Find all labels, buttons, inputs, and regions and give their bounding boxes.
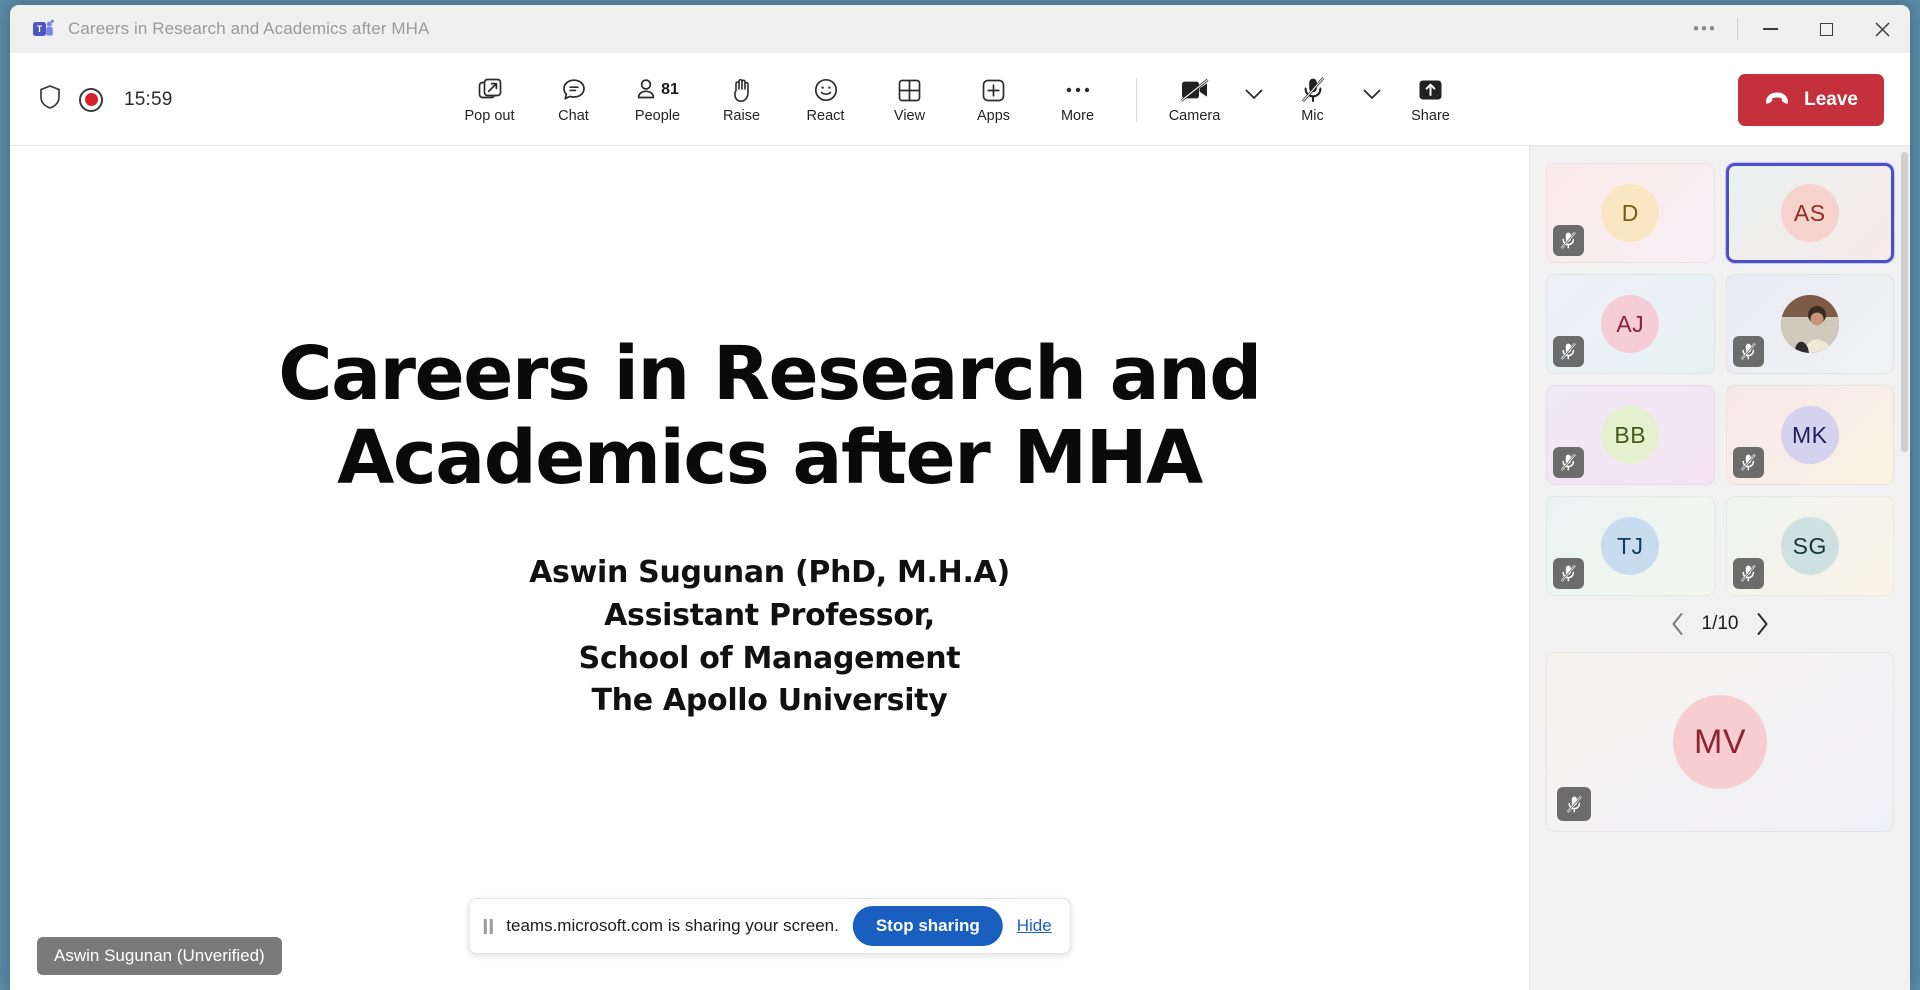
chevron-down-icon bbox=[1363, 89, 1381, 100]
camera-options-chevron[interactable] bbox=[1237, 60, 1271, 130]
screen-share-notification: teams.microsoft.com is sharing your scre… bbox=[468, 898, 1070, 954]
pop-out-button[interactable]: Pop out bbox=[448, 65, 532, 135]
window-title: Careers in Research and Academics after … bbox=[68, 19, 429, 39]
chevron-right-icon bbox=[1754, 612, 1770, 636]
participant-grid: D ASAJ BB MK TJ SG bbox=[1546, 163, 1894, 596]
participant-mute-badge bbox=[1733, 447, 1764, 478]
participant-tile[interactable]: BB bbox=[1546, 385, 1715, 485]
chat-button[interactable]: Chat bbox=[532, 65, 616, 135]
pager-label: 1/10 bbox=[1702, 613, 1739, 635]
react-emoji-icon bbox=[813, 75, 839, 105]
participant-mute-badge bbox=[1553, 336, 1584, 367]
pop-out-label: Pop out bbox=[465, 109, 515, 124]
mic-label: Mic bbox=[1301, 109, 1324, 124]
spotlight-participant-tile[interactable]: MV bbox=[1546, 652, 1894, 832]
window-controls: ••• bbox=[1677, 5, 1910, 53]
close-icon bbox=[1875, 22, 1890, 37]
participant-tile[interactable]: AJ bbox=[1546, 274, 1715, 374]
chevron-down-icon bbox=[1245, 89, 1263, 100]
camera-off-icon bbox=[1179, 75, 1211, 105]
slide-subtitle: Aswin Sugunan (PhD, M.H.A) Assistant Pro… bbox=[529, 552, 1010, 722]
teams-logo-icon: T bbox=[32, 18, 54, 40]
leave-button-label: Leave bbox=[1804, 89, 1858, 111]
maximize-icon bbox=[1820, 23, 1833, 36]
slide-subtitle-line: School of Management bbox=[529, 638, 1010, 681]
slide-subtitle-line: The Apollo University bbox=[529, 680, 1010, 723]
people-button[interactable]: 81 People bbox=[616, 65, 700, 135]
react-button[interactable]: React bbox=[784, 65, 868, 135]
people-icon: 81 bbox=[636, 75, 679, 105]
slide-subtitle-line: Aswin Sugunan (PhD, M.H.A) bbox=[529, 552, 1010, 595]
participant-avatar-initials: AJ bbox=[1601, 295, 1659, 353]
roster-pager: 1/10 bbox=[1546, 596, 1894, 652]
camera-button[interactable]: Camera bbox=[1153, 65, 1237, 135]
raise-hand-button[interactable]: Raise bbox=[700, 65, 784, 135]
shared-screen-stage[interactable]: Careers in Research and Academics after … bbox=[10, 146, 1530, 990]
participant-avatar-initials: AS bbox=[1781, 184, 1839, 242]
stop-sharing-button[interactable]: Stop sharing bbox=[853, 906, 1003, 946]
participant-photo bbox=[1781, 295, 1839, 353]
window-maximize-button[interactable] bbox=[1798, 5, 1854, 53]
participant-avatar-initials: TJ bbox=[1601, 517, 1659, 575]
mic-off-icon bbox=[1740, 453, 1757, 472]
pager-prev-button[interactable] bbox=[1670, 612, 1686, 636]
mic-off-icon bbox=[1300, 75, 1326, 105]
view-label: View bbox=[894, 109, 925, 124]
share-button[interactable]: Share bbox=[1389, 65, 1473, 135]
camera-label: Camera bbox=[1169, 109, 1221, 124]
participant-tile[interactable] bbox=[1726, 274, 1895, 374]
meeting-actions: Pop out Chat bbox=[10, 53, 1910, 146]
presenter-name-chip: Aswin Sugunan (Unverified) bbox=[37, 937, 282, 975]
screen-root: T Careers in Research and Academics afte… bbox=[0, 0, 1920, 990]
participant-tile[interactable]: D bbox=[1546, 163, 1715, 263]
mic-off-icon bbox=[1566, 795, 1583, 814]
hide-notification-link[interactable]: Hide bbox=[1017, 916, 1052, 936]
chat-icon bbox=[561, 75, 587, 105]
react-label: React bbox=[807, 109, 845, 124]
view-button[interactable]: View bbox=[868, 65, 952, 135]
participant-mute-badge bbox=[1733, 336, 1764, 367]
mic-button[interactable]: Mic bbox=[1271, 65, 1355, 135]
participant-avatar-initials: MK bbox=[1781, 406, 1839, 464]
participant-avatar-initials: D bbox=[1601, 184, 1659, 242]
pager-next-button[interactable] bbox=[1754, 612, 1770, 636]
participant-tile[interactable]: SG bbox=[1726, 496, 1895, 596]
minimize-icon bbox=[1763, 28, 1778, 30]
mic-off-icon bbox=[1560, 342, 1577, 361]
meeting-toolbar: 15:59 Pop out bbox=[10, 53, 1910, 146]
participant-tile[interactable]: MK bbox=[1726, 385, 1895, 485]
people-count: 81 bbox=[661, 81, 679, 99]
people-label: People bbox=[635, 109, 680, 124]
more-dots-icon: ••• bbox=[1693, 25, 1717, 33]
leave-button[interactable]: Leave bbox=[1738, 74, 1884, 126]
participant-avatar-initials: SG bbox=[1781, 517, 1839, 575]
spotlight-avatar-initials: MV bbox=[1673, 695, 1767, 789]
participant-avatar-photo bbox=[1781, 295, 1839, 353]
participant-mute-badge bbox=[1553, 225, 1584, 256]
teams-window: T Careers in Research and Academics afte… bbox=[10, 5, 1910, 990]
raise-label: Raise bbox=[723, 109, 760, 124]
leave-group: Leave bbox=[1738, 53, 1884, 146]
spotlight-mute-badge bbox=[1557, 787, 1591, 821]
mic-off-icon bbox=[1560, 564, 1577, 583]
window-close-button[interactable] bbox=[1854, 5, 1910, 53]
participant-mute-badge bbox=[1553, 558, 1584, 589]
pop-out-icon bbox=[477, 75, 503, 105]
toolbar-divider bbox=[1136, 78, 1137, 122]
participant-tile[interactable]: TJ bbox=[1546, 496, 1715, 596]
apps-label: Apps bbox=[977, 109, 1010, 124]
roster-scrollbar[interactable] bbox=[1901, 152, 1908, 452]
participant-roster-panel: D ASAJ BB MK TJ SG bbox=[1530, 146, 1910, 990]
svg-text:T: T bbox=[36, 24, 42, 34]
more-label: More bbox=[1061, 109, 1094, 124]
window-more-button[interactable]: ••• bbox=[1677, 5, 1733, 53]
pause-icon[interactable] bbox=[483, 919, 492, 934]
raise-hand-icon bbox=[730, 75, 754, 105]
slide-title: Careers in Research and Academics after … bbox=[255, 333, 1285, 500]
participant-avatar-initials: BB bbox=[1601, 406, 1659, 464]
mic-off-icon bbox=[1740, 342, 1757, 361]
window-title-bar: T Careers in Research and Academics afte… bbox=[10, 5, 1910, 53]
chat-label: Chat bbox=[558, 109, 589, 124]
share-screen-icon bbox=[1417, 75, 1444, 105]
presentation-slide: Careers in Research and Academics after … bbox=[10, 146, 1529, 990]
share-notification-message: teams.microsoft.com is sharing your scre… bbox=[506, 916, 839, 936]
participant-tile[interactable]: AS bbox=[1726, 163, 1895, 263]
mic-off-icon bbox=[1740, 564, 1757, 583]
mic-options-chevron[interactable] bbox=[1355, 60, 1389, 130]
more-dots-icon bbox=[1065, 75, 1091, 105]
apps-button[interactable]: Apps bbox=[952, 65, 1036, 135]
apps-plus-icon bbox=[981, 75, 1006, 105]
window-controls-divider bbox=[1737, 18, 1738, 40]
mic-off-icon bbox=[1560, 231, 1577, 250]
hangup-phone-icon bbox=[1764, 89, 1790, 111]
share-label: Share bbox=[1411, 109, 1450, 124]
chevron-left-icon bbox=[1670, 612, 1686, 636]
window-minimize-button[interactable] bbox=[1742, 5, 1798, 53]
participant-mute-badge bbox=[1553, 447, 1584, 478]
meeting-body: Careers in Research and Academics after … bbox=[10, 146, 1910, 990]
slide-subtitle-line: Assistant Professor, bbox=[529, 595, 1010, 638]
view-grid-icon bbox=[897, 75, 922, 105]
participant-mute-badge bbox=[1733, 558, 1764, 589]
mic-off-icon bbox=[1560, 453, 1577, 472]
more-button[interactable]: More bbox=[1036, 65, 1120, 135]
